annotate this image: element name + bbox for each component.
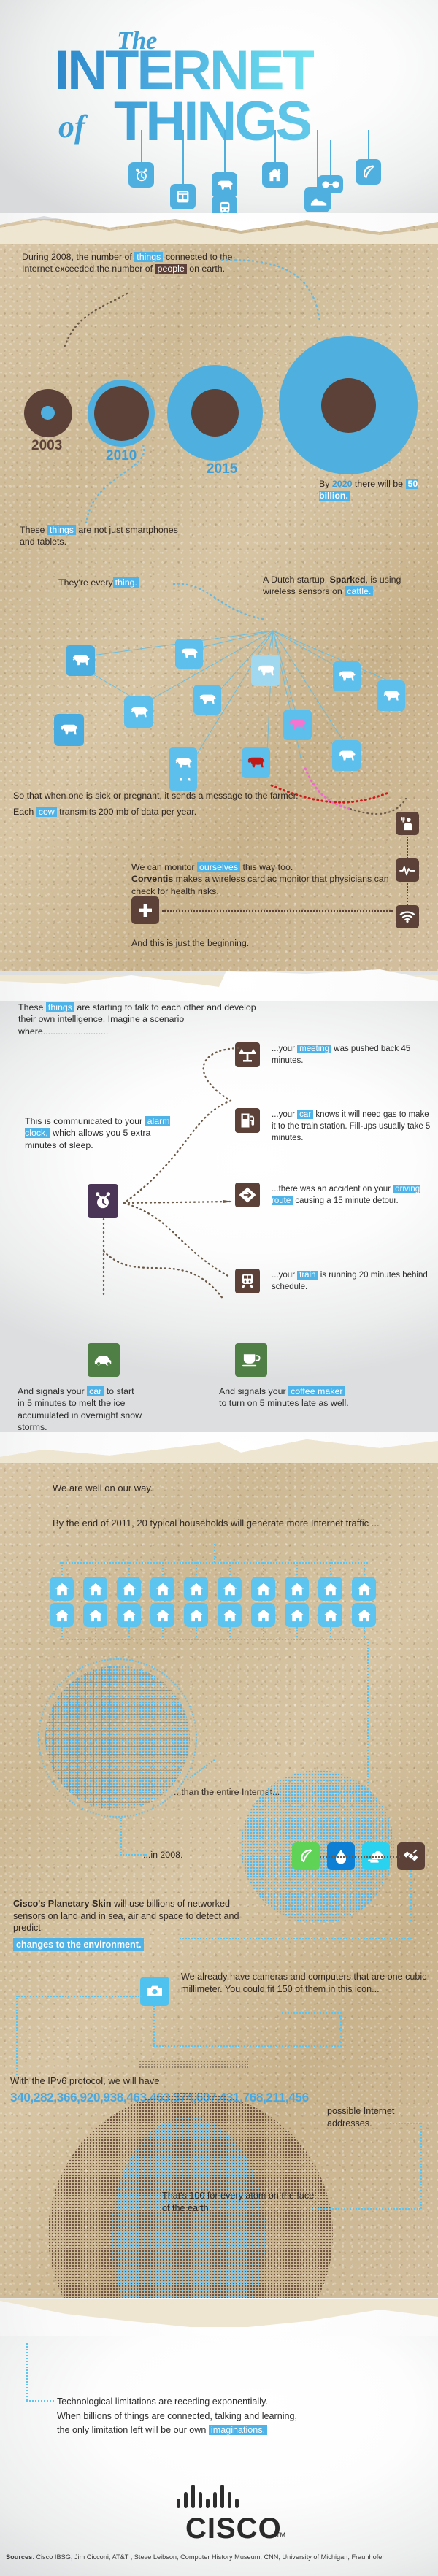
ipv6-box-top [387,2123,420,2124]
house-icon [262,162,288,188]
planetary-link-back [180,1938,412,1939]
house-stem [128,1627,130,1640]
circle-2010-brown [94,386,149,441]
scenario-item-car-gas: ...your car knows it will need gas to ma… [272,1110,434,1145]
house-icon [117,1577,141,1601]
year-label-2003: 2003 [31,438,62,454]
camera-text: We already have cameras and computers th… [181,1971,429,1995]
title-header: The INTERNET of THINGS [0,0,438,219]
infographic-page: The INTERNET of THINGS [0,0,438,2576]
people-highlight: people [155,264,187,274]
planetary-skin-text: Cisco's Planetary Skin will use billions… [13,1898,261,1934]
stem [141,130,142,162]
year-label-2015: 2015 [207,461,237,477]
closing-lead-horiz [26,2400,54,2402]
coffee-cup-icon [235,1343,267,1377]
ipv6-suffix: possible Internet addresses. [327,2105,429,2129]
house-stem [61,1562,63,1578]
scenario-output-connectors [95,1218,255,1312]
stem [182,130,184,184]
cisco-trademark: TM [276,2531,285,2539]
in-2008-text: ...in 2008. [143,1849,182,1861]
corventis-brand: Corventis [131,874,173,884]
ipv6-box-right [420,2123,422,2209]
scenario-item-driving-route: ...there was an accident on your driving… [272,1184,434,1207]
house-icon [50,1603,74,1627]
alarm-clock-icon [128,162,154,188]
cow-tile [66,645,95,676]
environment-highlight: changes to the environment. [13,1938,144,1951]
camera-box-left [153,2006,155,2047]
stem [274,130,276,162]
house-icon [83,1577,107,1601]
sparked-brand: Sparked [330,574,366,585]
house-stem [162,1562,164,1578]
corventis-text: We can monitor ourselves this way too. C… [131,861,394,897]
camera-box-top [282,2012,342,2014]
house-stem [196,1562,197,1578]
leaf-icon-2 [292,1842,320,1870]
camera-box-right [340,2012,342,2046]
medical-cross-icon [131,896,159,924]
house-icon [318,1603,342,1627]
circle-2020-brown [321,378,376,433]
house-icon [285,1603,309,1627]
closing-text: Technological limitations are receding e… [57,2395,407,2438]
sources-line: Sources: Cisco IBSG, Jim Cicconi, AT&T ,… [6,2553,429,2562]
thing-highlight: thing. [113,577,139,588]
house-stem [263,1627,264,1640]
ipv6-lead: With the IPv6 protocol, we will have [10,2075,159,2087]
things-highlight: things [134,252,163,262]
sparked-text: A Dutch startup, Sparked, is using wirel… [263,574,432,598]
house-stem [229,1562,231,1578]
households-headline: We are well on our way. [53,1482,153,1494]
house-stem [95,1627,96,1640]
bus-right [367,1639,369,1792]
house-stem [364,1627,365,1640]
cisco-wordmark: CISCO [185,2512,282,2545]
house-icon [218,1577,242,1601]
house-stem [196,1627,197,1640]
dotted-connector-growth [219,254,380,334]
atom-note: That's 100 for every atom on the face of… [162,2190,315,2214]
closing-lead-vert [26,2343,28,2400]
cow-tile-pregnant [283,710,312,740]
closing-line-2: When billions of things are connected, t… [57,2411,297,2421]
bus-top [60,1562,368,1564]
page-title-internet: INTERNET [54,45,314,96]
cow-tile [251,655,280,686]
car-highlight: car [297,1110,313,1119]
house-icon [352,1577,376,1601]
bus-bottom [60,1639,368,1640]
washing-machine-icon [170,184,196,209]
coffee-maker-highlight: coffee maker [288,1386,345,1396]
house-stem [61,1627,63,1640]
cow-tile [175,639,203,669]
shoe-icon [306,191,331,211]
heartbeat-icon [396,858,419,882]
output-car-text: And signals your car to start in 5 minut… [18,1385,143,1434]
house-icon [50,1577,74,1601]
output-coffee-text: And signals your coffee maker to turn on… [219,1385,354,1410]
circle-2015-brown [191,389,239,437]
stem [368,130,369,159]
scenario-intro: These things are starting to talk to eac… [18,1001,259,1037]
things-highlight-3: things [46,1002,74,1012]
house-icon [251,1577,275,1601]
car-highlight-2: car [87,1386,104,1396]
cattle-highlight: cattle. [345,586,373,596]
page-title-of: of [58,108,85,145]
ourselves-highlight: ourselves [197,862,240,872]
planetary-skin-brand: Cisco's Planetary Skin [13,1899,112,1909]
sensor-drop [410,1870,412,1921]
globe-drop [120,1818,122,1856]
house-icon [285,1577,309,1601]
bus-drop [214,1544,215,1563]
cow-tile [124,696,153,728]
camera-left-lead [16,1996,142,1997]
cow-tile [193,685,221,715]
year-2020: 2020 [332,479,353,489]
car-icon [88,1343,120,1377]
house-icon [352,1603,376,1627]
scenario-item-meeting: ...your meeting was pushed back 45 minut… [272,1044,434,1067]
house-stem [296,1562,298,1578]
house-icon [83,1603,107,1627]
cow-highlight: cow [36,807,57,817]
globe-grid-overlay [45,1666,190,1810]
leaf-icon [356,159,381,185]
camera-icon [140,1977,169,2006]
house-stem [162,1627,164,1640]
sensor-link [320,1856,400,1858]
dotted-connector-2003 [51,292,131,349]
environment-highlight-wrap: changes to the environment. [13,1938,144,1951]
house-icon [184,1577,208,1601]
house-icon [251,1603,275,1627]
cow-tile [333,661,361,691]
closing-line-1: Technological limitations are receding e… [57,2396,268,2407]
beginning-text: And this is just the beginning. [131,937,249,949]
dotted-connector-things [79,445,159,526]
things-highlight-2: things [47,525,76,535]
house-stem [229,1627,231,1640]
cow-tile [377,680,405,711]
cow-tile [54,714,84,746]
cisco-bridge-logo [177,2482,239,2508]
farmer-icon [396,812,419,835]
camera-dot-grid [139,2060,248,2069]
page-title-things: THINGS [114,96,310,147]
house-icon [117,1603,141,1627]
camera-box-bottom [153,2045,342,2047]
cow-tile [169,747,197,778]
house-stem [296,1627,298,1640]
cow-icon [212,172,237,198]
house-icon [150,1603,174,1627]
cow-detail-line2: Each cow transmits 200 mb of data per ye… [13,806,320,818]
house-stem [263,1562,264,1578]
house-stem [330,1562,331,1578]
rail-dots-2 [407,883,408,905]
everything-text-2: They're everything. [58,577,139,588]
circle-2003-blue [41,406,55,420]
house-stem [364,1562,365,1578]
house-icon [318,1577,342,1601]
stem [224,130,226,172]
house-stem [330,1627,331,1640]
cow-detail-line1: So that when one is sick or pregnant, it… [13,790,407,801]
forecast-2020-text: By 2020 there will be 50 billion. [319,478,436,502]
satellite-icon [397,1842,425,1870]
sources-label: Sources [6,2553,32,2561]
house-icon [218,1603,242,1627]
house-icon [150,1577,174,1601]
wifi-icon [396,905,419,928]
house-stem [128,1562,130,1578]
everything-text-1: These things are not just smartphones an… [20,524,195,548]
sources-text: : Cisco IBSG, Jim Cicconi, AT&T , Steve … [32,2553,384,2561]
cross-wifi-dots [162,910,393,912]
households-body: By the end of 2011, 20 typical household… [53,1517,381,1529]
growth-intro-text: During 2008, the number of things connec… [22,251,248,275]
meeting-highlight: meeting [297,1045,331,1053]
rail-dots [407,837,408,858]
house-icon [184,1603,208,1627]
imaginations-highlight: imaginations. [209,2425,267,2435]
train-highlight: train [297,1271,318,1280]
camera-left-vert [16,1996,18,2080]
scenario-item-train: ...your train is running 20 minutes behi… [272,1270,434,1293]
house-stem [95,1562,96,1578]
